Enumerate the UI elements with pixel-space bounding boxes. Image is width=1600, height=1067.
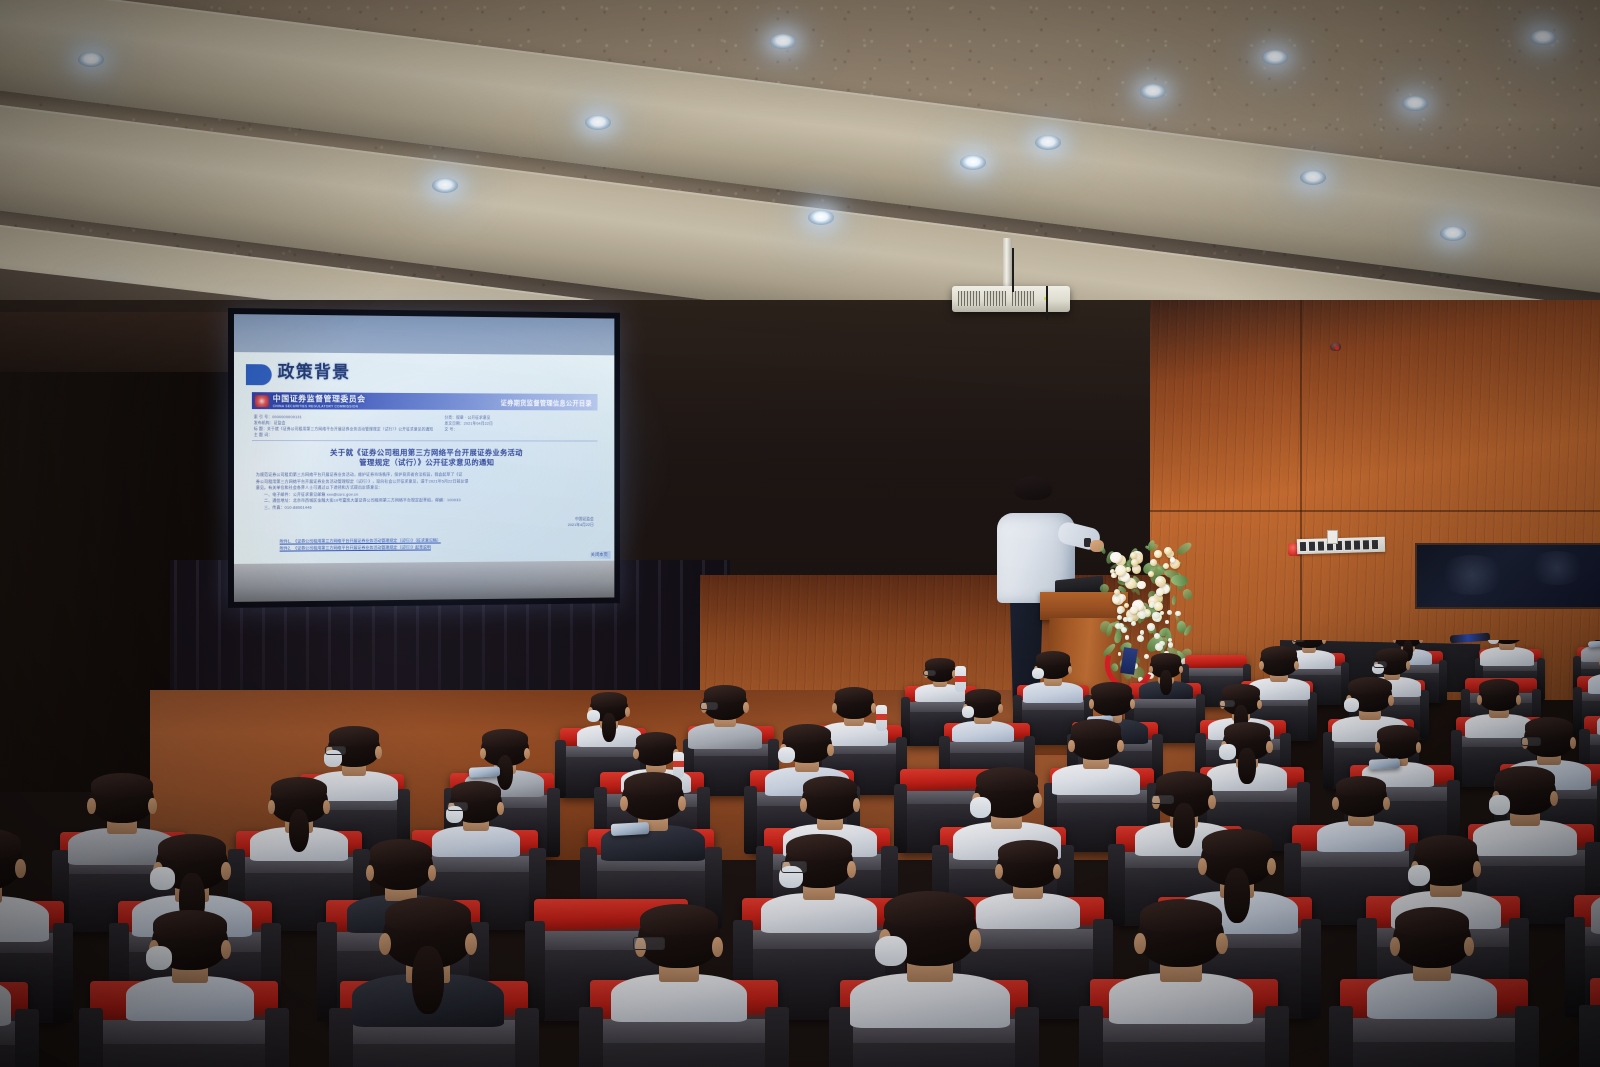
light-switch-key[interactable] [1362,539,1370,550]
attendee-hair [624,772,683,795]
attendee-ear [633,749,638,759]
screen-top-band [234,314,614,355]
ceiling-downlight [78,52,104,67]
seat-armrest [53,923,73,1023]
attendee-hair [1222,684,1259,699]
attendee-hair [91,773,152,797]
seat-armrest [547,788,561,857]
audience-member [1223,724,1271,782]
ceiling-downlight [1530,30,1556,45]
projector-vent [1012,291,1034,306]
face-mask [1489,795,1510,815]
ceiling-downlight [432,178,458,193]
seat-armrest [515,1008,539,1067]
attendee-device [610,822,648,836]
ceiling-downlight [1262,50,1288,65]
water-bottle [955,666,966,692]
ceiling-downlight [1440,226,1466,241]
attendee-head [802,778,858,820]
seat-armrest [1108,844,1124,926]
attendee-ponytail [289,809,310,853]
document-body: 为规范证券公司租用第三方网络平台开展证券业务活动，维护证券市场秩序，保护投资者合… [256,472,596,512]
document-heading-1: 关于就《证券公司租用第三方网络平台开展证券业务活动 [234,448,614,458]
attendee-hair [884,891,975,927]
flower-foliage [1171,574,1189,587]
seat-trim [1297,851,1413,867]
audience-member [1494,768,1556,844]
ceiling-downlight [585,115,611,130]
eyeglasses-icon [633,937,664,950]
flower-floret [1123,617,1128,622]
attendee-ear [871,703,876,713]
document-divider [252,440,598,441]
attendee-head [834,688,875,719]
attendee-head [1393,909,1471,968]
seat-armrest [1308,692,1317,741]
seat-armrest [1515,1006,1539,1067]
attendee-device [1368,758,1400,770]
light-switch-key[interactable] [1371,539,1379,550]
seat-armrest [1565,917,1585,1017]
attendee-ponytail [412,946,444,1014]
ceiling-downlight [1140,84,1166,99]
document-heading-2: 管理规定（试行）》公开征求意见的通知 [234,458,614,468]
attendee-ear [524,748,530,759]
light-switch-key[interactable] [1299,541,1307,552]
eyeglasses-icon [1219,700,1235,707]
presentation-slide: 政策背景 中国证券监督管理委员会 CHINA SECURITIES REGULA… [234,352,614,564]
attendee-head [1479,680,1520,711]
attendee-ear [827,744,833,756]
attendee-hair [153,910,227,939]
window-reflection [1527,551,1587,585]
eyeglasses-icon [1151,795,1174,805]
document-meta-right: 分类：规章 · 公开征求意见 发文日期：2021年04月22日 文 号： [445,415,597,433]
slide-title: 政策背景 [278,361,351,383]
attendee-ear [1134,933,1145,954]
attendee-ear [743,702,749,713]
ceiling-downlight [1035,135,1061,150]
flower-bloom [1148,571,1154,577]
flower-bloom [1150,559,1157,566]
audience-member [1413,837,1478,917]
attendee-head [1377,727,1420,759]
attendee-hair [271,777,327,799]
seat-armrest [1015,1007,1039,1067]
eyeglasses-icon [923,670,936,676]
audience-member [1479,680,1520,730]
attendee-hair [370,839,432,863]
flower-bloom [1124,603,1129,608]
csrc-emblem-icon [255,395,269,407]
face-mask [970,797,992,817]
attendee-hair [704,685,747,702]
attendee-ear [1322,640,1326,644]
attendee-ear [1068,666,1073,675]
face-mask [1488,640,1499,644]
audience-member [965,690,1002,735]
document-footer-note[interactable]: 关闭本页 [588,551,611,559]
document-organization: 中国证券监督管理委员会 CHINA SECURITIES REGULATORY … [273,393,366,408]
attendee-hair [1376,648,1409,661]
attendee-head [90,775,154,823]
attendee-hair [1036,651,1070,664]
attendee-ear [847,861,856,878]
audience-member [0,830,22,926]
attendee-ear [15,859,25,878]
slide-bullet-icon [246,364,272,385]
attendee-hair [786,834,852,860]
audience-member [1377,727,1420,779]
eyeglasses-icon [700,702,718,710]
attendee-hair [1495,766,1555,789]
document-banner: 中国证券监督管理委员会 CHINA SECURITIES REGULATORY … [252,392,598,410]
ceiling-downlight [1402,96,1428,111]
seat-trim [598,1019,771,1043]
attendee-ear [853,798,860,812]
wall-switch-panel[interactable] [1297,537,1385,554]
face-mask [587,710,600,722]
attendee-ear [375,746,382,759]
attendee-hair [835,687,874,702]
flower-bloom [1131,559,1137,565]
eyeglasses-icon [325,746,346,755]
flower-floret [1165,620,1169,624]
audience-member [1393,909,1471,1004]
audience-member [834,688,875,737]
flower-floret [1146,611,1150,615]
flower-bloom [1113,596,1120,603]
audience-member [328,728,380,791]
document-signature: 中国证监会 2021年4月22日 [568,516,594,529]
audience-member [1348,678,1393,733]
attendee-hair [1525,717,1573,736]
document-attachment-link[interactable]: 附件2. 《证券公司租用第三方网络平台开展证券业务活动管理规定（试行）》起草说明 [280,544,431,552]
seat-armrest [1579,1005,1600,1067]
attendee-hair [1091,682,1132,698]
attendee-hair [1415,835,1478,860]
attendee-ear [1068,740,1075,753]
attendee-hair [965,689,1000,703]
flower-floret [1117,615,1122,620]
audience-member [1260,647,1297,693]
eyeglasses-icon [447,802,468,811]
flower-bloom [1154,550,1161,557]
attendee-ear [995,864,1003,879]
seat-trim [1132,699,1198,709]
flower-foliage [1098,582,1110,594]
wall-switch-single[interactable] [1327,530,1338,544]
auditorium-seat[interactable] [1590,978,1600,1067]
ceiling [0,0,1600,330]
attendee-hair [591,692,628,706]
attendee-hair [1377,725,1418,741]
audience-seating [0,640,1600,1067]
audience-member [1335,777,1388,842]
wall-panel-highlight [0,312,248,372]
attendee-ear [1416,742,1422,752]
projector-cable [1046,286,1068,320]
seat-armrest [317,922,337,1022]
flower-floret [1149,603,1154,608]
audience-member [975,769,1040,848]
audience-member [152,912,229,1005]
projection-screen: 政策背景 中国证券监督管理委员会 CHINA SECURITIES REGULA… [228,308,620,608]
attendee-head [1091,683,1134,715]
audience-member [997,842,1059,917]
light-switch-key[interactable] [1353,539,1361,550]
ceiling-downlight [960,155,986,170]
fire-sensor-led [1335,346,1339,350]
auditorium-photo: 政策背景 中国证券监督管理委员会 CHINA SECURITIES REGULA… [0,0,1600,1067]
seat-armrest [744,786,758,855]
attendee-hair [1151,653,1182,665]
attendee-hair [640,904,718,935]
audience-member [270,779,328,850]
attendee-head [1335,777,1388,817]
audience-member [1293,640,1324,663]
eyeglasses-icon [1521,737,1541,746]
projector-vent [984,291,1006,306]
face-mask [150,867,174,890]
flower-bloom [1156,588,1164,596]
attendee-ear [221,862,230,879]
attendee-ear [1570,737,1577,749]
attendee-device [468,766,500,778]
seat-armrest [1079,1006,1103,1067]
water-bottle [876,705,887,731]
seat-armrest [765,1007,789,1067]
flower-floret [1147,623,1155,631]
attendee-ear [1464,937,1474,956]
attendee-ear [1259,661,1264,670]
attendee-ear [480,748,486,759]
flower-foliage [1099,545,1106,554]
eyeglasses-icon [1292,640,1305,642]
attendee-hair [1071,719,1121,739]
seat-armrest [265,1008,289,1067]
flower-bloom [1154,602,1162,610]
attendee-hair [1261,646,1297,660]
attendee-hair [329,726,379,746]
audience-member [638,907,719,1006]
audience-member [925,659,955,696]
light-switch-key[interactable] [1308,541,1316,552]
document-organization-en: CHINA SECURITIES REGULATORY COMMISSION [273,404,366,408]
attendee-ponytail [1160,670,1172,694]
attendee-hair [976,767,1038,791]
ceiling-downlight [1300,170,1326,185]
attendee-hair [783,724,831,743]
attendee-hair [1140,899,1223,932]
attendee-device [1588,641,1600,648]
attendee-hair [803,776,856,797]
seat-armrest [15,1009,39,1067]
attendee-ear [428,865,436,881]
seat-trim [563,746,642,757]
attendee-ponytail [1224,868,1250,923]
audience-member [622,774,683,849]
attendee-hair [1224,722,1270,740]
attendee-hair [482,729,527,747]
flower-floret [1138,611,1146,619]
attendee-hair [1479,679,1518,694]
screen-bottom-band [234,561,614,602]
ceiling-downlight [770,34,796,49]
attendee-ear [1266,741,1272,753]
attendee-ear [1033,793,1041,809]
attendee-hair [158,834,227,861]
attendee-head [635,734,677,766]
document-category: 证券期货监督管理信息公开目录 [501,397,592,407]
flower-floret [1160,611,1164,615]
wall-seam [1150,510,1600,512]
flower-foliage [1172,594,1178,605]
light-switch-key[interactable] [1344,540,1352,551]
seat-armrest [329,1008,353,1067]
audience-member [883,894,978,1010]
flower-floret [1121,627,1127,633]
seat-trim [1187,668,1244,676]
flower-bloom [1164,547,1172,555]
attendee-ear [87,798,95,814]
attendee-ponytail [602,713,616,742]
attendee-hair [1395,907,1469,936]
attendee-ear [1267,858,1276,876]
document-meta-left: 索 引 号：0000000000131 发布机构：证监会 标 题：关于就《证券公… [254,414,435,438]
attendee-ear [1383,797,1390,810]
seat-armrest [79,1008,103,1067]
attendee-ear [625,707,630,716]
seat-armrest [894,784,908,853]
attendee-ponytail [1238,748,1255,784]
projector-cable [1012,248,1042,292]
audience-member [1138,902,1224,1007]
ceiling-downlight [808,210,834,225]
audience-member [450,783,502,847]
attendee-shoulders [1581,645,1600,662]
attendee-head [1070,721,1122,761]
attendee-hair [636,732,677,748]
flower-floret [1154,633,1160,639]
eyeglasses-icon [781,861,808,872]
audience-member [1070,721,1122,785]
attendee-ear [1149,666,1153,674]
audience-member [1035,653,1071,696]
seat-armrest [1420,690,1429,739]
flower-bloom [1137,581,1146,590]
projector-mount-pole [1003,238,1012,288]
audience-member [481,731,528,788]
attendee-hair [385,897,471,931]
attendee-ear [1208,795,1216,809]
face-mask [1219,744,1235,759]
attendee-hair [1348,677,1391,694]
attendee-ear [1419,640,1423,643]
attendee-head [622,774,683,820]
attendee-ear [620,796,628,811]
attendee-ear [998,704,1003,713]
flower-floret [1131,621,1136,626]
audience-member [703,686,748,740]
flower-bloom [1114,589,1120,595]
seat-armrest [1265,1006,1289,1067]
attendee-head [1260,647,1297,675]
attendee-head [1138,902,1224,967]
face-mask [1344,698,1359,712]
attendee-hair [998,840,1057,863]
speaker-hair [1014,476,1052,500]
projector-vent [958,291,980,306]
attendee-hair [1202,829,1272,856]
attendee-ponytail [1173,803,1194,847]
attendee-head [997,842,1059,889]
seat-armrest [1329,1006,1353,1067]
seat-armrest [579,1007,603,1067]
attendee-hair [1156,771,1212,793]
seat-armrest [1439,660,1447,703]
attendee-ear [1473,861,1482,877]
attendee-hair [1336,776,1387,796]
seat-trim [947,742,1026,753]
attendee-head [369,841,434,890]
eyeglasses-icon [1373,661,1387,668]
attendee-ear [712,937,723,957]
flower-floret [1175,611,1181,617]
seat-trim [1348,1018,1521,1042]
attendee-ear [1257,700,1262,709]
audience-member [785,836,854,920]
face-mask [1408,865,1430,886]
attendee-ear [465,933,477,955]
seat-armrest [1301,919,1321,1019]
flower-bloom [1163,563,1169,569]
audience-member [1150,654,1182,693]
light-switch-key[interactable] [1317,540,1325,551]
attendee-ear [148,798,156,814]
attendee-ear [379,933,391,955]
flower-floret [1117,608,1123,614]
audience-member [1491,640,1524,659]
audience-member [383,900,473,1010]
seat-trim [98,1020,271,1044]
control-room-window [1415,543,1600,609]
attendee-hair [925,658,954,669]
flower-floret [1167,610,1172,615]
audience-member [90,775,154,853]
audience-member [590,693,628,740]
face-mask [778,747,795,763]
face-mask [146,946,172,970]
window-reflection [1437,555,1507,595]
attendee-hair [0,828,21,858]
face-mask [962,706,974,718]
flower-bloom [1115,565,1125,575]
attendee-ear [1216,933,1227,954]
attendee-hair [451,781,501,801]
face-mask [875,936,907,966]
